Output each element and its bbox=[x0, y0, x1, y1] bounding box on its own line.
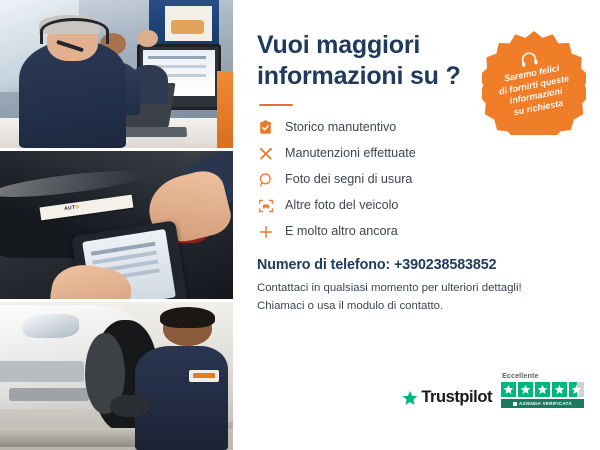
tablet-screen-lines bbox=[90, 242, 155, 255]
photo-frame-car-icon bbox=[257, 197, 274, 214]
page-title: Vuoi maggiori informazioni su ? bbox=[257, 30, 472, 91]
wall-poster bbox=[165, 6, 212, 42]
trustpilot-badge[interactable]: Trustpilot Eccellente bbox=[402, 371, 584, 408]
advertisement-panel: AUTO Vuoi maggiori informaz bbox=[0, 0, 600, 450]
contact-copy-line-1: Contattaci in qualsiasi momento per ulte… bbox=[257, 280, 578, 298]
plus-icon bbox=[257, 223, 274, 240]
trustpilot-logo: Trustpilot bbox=[402, 388, 492, 408]
trustpilot-wordmark: Trustpilot bbox=[421, 388, 492, 407]
headset-icon bbox=[519, 50, 541, 68]
clipboard-check-glyph bbox=[258, 120, 273, 135]
mechanic-head bbox=[163, 311, 212, 347]
mechanic-glove bbox=[110, 395, 150, 417]
mechanic-body bbox=[135, 346, 228, 450]
title-divider bbox=[259, 104, 293, 106]
tools-cross-icon bbox=[257, 145, 274, 162]
trustpilot-stars bbox=[501, 382, 584, 397]
plus-glyph bbox=[258, 224, 274, 240]
trustpilot-rating-label: Eccellente bbox=[502, 371, 539, 380]
car-headlight bbox=[23, 314, 79, 338]
trustpilot-star-icon bbox=[402, 390, 418, 406]
trustpilot-star-2 bbox=[518, 382, 533, 397]
clipboard-check-icon bbox=[257, 119, 274, 136]
trustpilot-rating: Eccellente bbox=[501, 371, 584, 408]
phone-number-line: Numero di telefono: +390238583852 bbox=[257, 257, 578, 273]
car-inspection-tablet-photo: AUTO bbox=[0, 151, 233, 299]
star-glyph bbox=[503, 384, 514, 395]
feature-item-foto-segni-usura: Foto dei segni di usura bbox=[257, 171, 487, 188]
star-glyph bbox=[554, 384, 565, 395]
magnifier-glyph bbox=[258, 172, 274, 188]
trustpilot-star-1 bbox=[501, 382, 516, 397]
feature-item-molto-altro: E molto altro ancora bbox=[257, 223, 487, 240]
tools-cross-glyph bbox=[258, 146, 274, 162]
headline-line-1: Vuoi maggiori bbox=[257, 31, 420, 59]
contact-copy: Contattaci in qualsiasi momento per ulte… bbox=[257, 280, 578, 315]
star-glyph bbox=[571, 384, 582, 395]
magnifier-icon bbox=[257, 171, 274, 188]
feature-label: Altre foto del veicolo bbox=[285, 199, 398, 213]
phone-label: Numero di telefono: bbox=[257, 257, 390, 273]
mechanic-wheel-check-photo bbox=[0, 302, 233, 450]
feature-list: Storico manutentivo Manutenzioni effettu… bbox=[257, 119, 487, 240]
feature-label: Storico manutentivo bbox=[285, 121, 396, 135]
headline-line-2: informazioni su ? bbox=[257, 61, 472, 92]
contact-copy-line-2: Chiamaci o usa il modulo di contatto. bbox=[257, 298, 578, 316]
feature-label: Manutenzioni effettuate bbox=[285, 147, 416, 161]
car-grille-lower bbox=[9, 388, 88, 401]
content-panel: Vuoi maggiori informazioni su ? Saremo f… bbox=[233, 0, 600, 450]
star-glyph bbox=[537, 384, 548, 395]
trustpilot-star-5-half bbox=[569, 382, 584, 397]
orange-edge-accent bbox=[217, 71, 233, 148]
feature-label: E molto altro ancora bbox=[285, 225, 398, 239]
trustpilot-star-4 bbox=[552, 382, 567, 397]
sticker-label: AUTO bbox=[63, 204, 79, 212]
car-grille-upper bbox=[0, 361, 84, 382]
call-center-agents-photo bbox=[0, 0, 233, 148]
star-glyph bbox=[520, 384, 531, 395]
feature-label: Foto dei segni di usura bbox=[285, 173, 412, 187]
uniform-logo-patch bbox=[189, 370, 219, 382]
feature-item-manutenzioni-effettuate: Manutenzioni effettuate bbox=[257, 145, 487, 162]
phone-number[interactable]: +390238583852 bbox=[394, 257, 496, 273]
photo-frame-car-glyph bbox=[258, 198, 274, 214]
verified-check-icon bbox=[513, 402, 517, 406]
feature-item-storico-manutentivo: Storico manutentivo bbox=[257, 119, 487, 136]
headset-band bbox=[40, 18, 109, 45]
callout-burst-badge: Saremo felici di fornirti queste informa… bbox=[482, 31, 586, 135]
trustpilot-star-3 bbox=[535, 382, 550, 397]
trustpilot-verified-badge: AZIENDA VERIFICATA bbox=[501, 399, 584, 408]
photo-column: AUTO bbox=[0, 0, 233, 450]
verified-label: AZIENDA VERIFICATA bbox=[519, 401, 572, 406]
feature-item-altre-foto-veicolo: Altre foto del veicolo bbox=[257, 197, 487, 214]
